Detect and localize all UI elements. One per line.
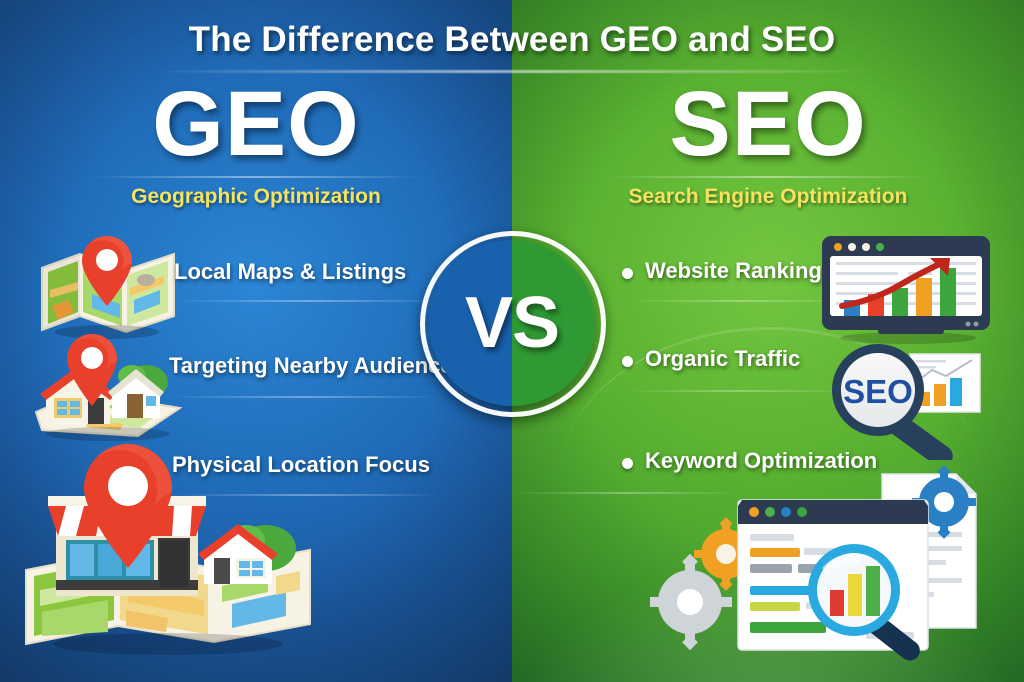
seo-bullet-2 (622, 458, 633, 469)
geo-item-label-0: Local Maps & Listings (174, 259, 406, 285)
seo-item-divider-1 (624, 390, 852, 392)
geo-item-divider-1 (170, 396, 438, 398)
geo-heading-block: GEO Geographic Optimization (0, 78, 512, 209)
seo-heading-block: SEO Search Engine Optimization (512, 78, 1024, 209)
seo-acronym: SEO (512, 78, 1024, 170)
geo-item-label-2: Physical Location Focus (172, 452, 430, 478)
page-title: The Difference Between GEO and SEO (0, 20, 1024, 60)
infographic-canvas: The Difference Between GEO and SEO GEO G… (0, 0, 1024, 682)
vs-badge: VS (429, 240, 595, 406)
geo-heading-divider (91, 176, 421, 178)
seo-item-label-0: Website Ranking (645, 258, 822, 284)
monitor-growth-chart-icon (816, 234, 996, 346)
seo-item-label-1: Organic Traffic (645, 346, 800, 372)
browser-gears-magnifier-icon (650, 462, 996, 662)
seo-magnifier-chart-icon: SEO (822, 340, 992, 460)
seo-heading-divider (603, 176, 933, 178)
neighborhood-houses-pin-icon (28, 330, 188, 448)
seo-subtitle: Search Engine Optimization (512, 185, 1024, 209)
folded-map-pin-icon (34, 232, 182, 340)
seo-bullet-1 (622, 356, 633, 367)
vs-label: VS (465, 282, 559, 364)
seo-bullet-0 (622, 268, 633, 279)
geo-item-divider-0 (175, 300, 445, 302)
seo-magnifier-text: SEO (843, 373, 913, 410)
geo-item-label-1: Targeting Nearby Audience (169, 353, 453, 379)
geo-acronym: GEO (0, 78, 512, 170)
geo-subtitle: Geographic Optimization (0, 185, 512, 209)
